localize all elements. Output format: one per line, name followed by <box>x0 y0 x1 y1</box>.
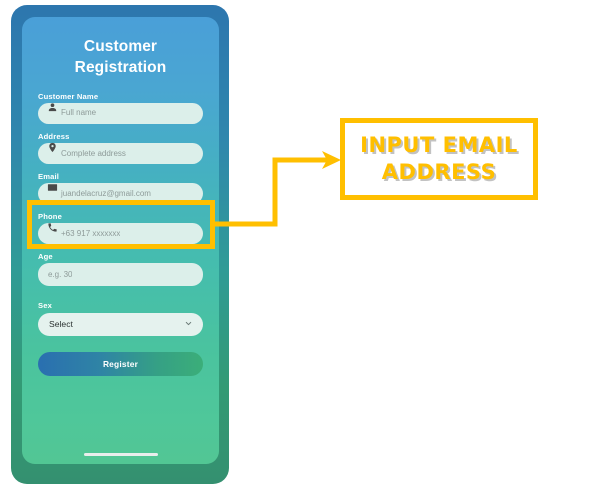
label-sex: Sex <box>38 301 203 310</box>
label-address: Address <box>38 132 203 141</box>
input-phone[interactable]: +63 917 xxxxxxx <box>38 223 203 244</box>
page-title: Customer Registration <box>38 37 203 79</box>
home-indicator <box>84 453 158 456</box>
location-pin-icon <box>47 142 58 153</box>
input-age[interactable]: e.g. 30 <box>38 263 203 286</box>
input-age-text: e.g. 30 <box>38 271 72 279</box>
field-address: Address Complete address <box>38 132 203 164</box>
envelope-icon <box>47 182 58 193</box>
phone-frame: Customer Registration Customer Name Full… <box>11 5 229 484</box>
field-sex: Sex Select <box>38 301 203 335</box>
person-icon <box>47 102 58 113</box>
phone-screen: Customer Registration Customer Name Full… <box>22 17 219 464</box>
select-sex[interactable]: Select <box>38 313 203 336</box>
select-sex-value: Select <box>49 320 73 329</box>
callout-box: INPUT EMAIL ADDRESS <box>340 118 538 200</box>
field-age: Age e.g. 30 <box>38 252 203 286</box>
phone-icon <box>47 222 58 233</box>
label-phone: Phone <box>38 212 203 221</box>
field-email: Email juandelacruz@gmail.com <box>38 172 203 204</box>
register-button[interactable]: Register <box>38 352 203 376</box>
field-phone: Phone +63 917 xxxxxxx <box>38 212 203 244</box>
registration-form: Customer Registration Customer Name Full… <box>22 17 219 376</box>
callout-text: INPUT EMAIL ADDRESS <box>345 132 533 186</box>
register-button-label: Register <box>103 359 138 369</box>
input-customer-name[interactable]: Full name <box>38 103 203 124</box>
input-address[interactable]: Complete address <box>38 143 203 164</box>
label-customer-name: Customer Name <box>38 92 203 101</box>
label-email: Email <box>38 172 203 181</box>
input-email[interactable]: juandelacruz@gmail.com <box>38 183 203 204</box>
label-age: Age <box>38 252 203 261</box>
chevron-down-icon <box>184 319 193 330</box>
field-customer-name: Customer Name Full name <box>38 92 203 124</box>
